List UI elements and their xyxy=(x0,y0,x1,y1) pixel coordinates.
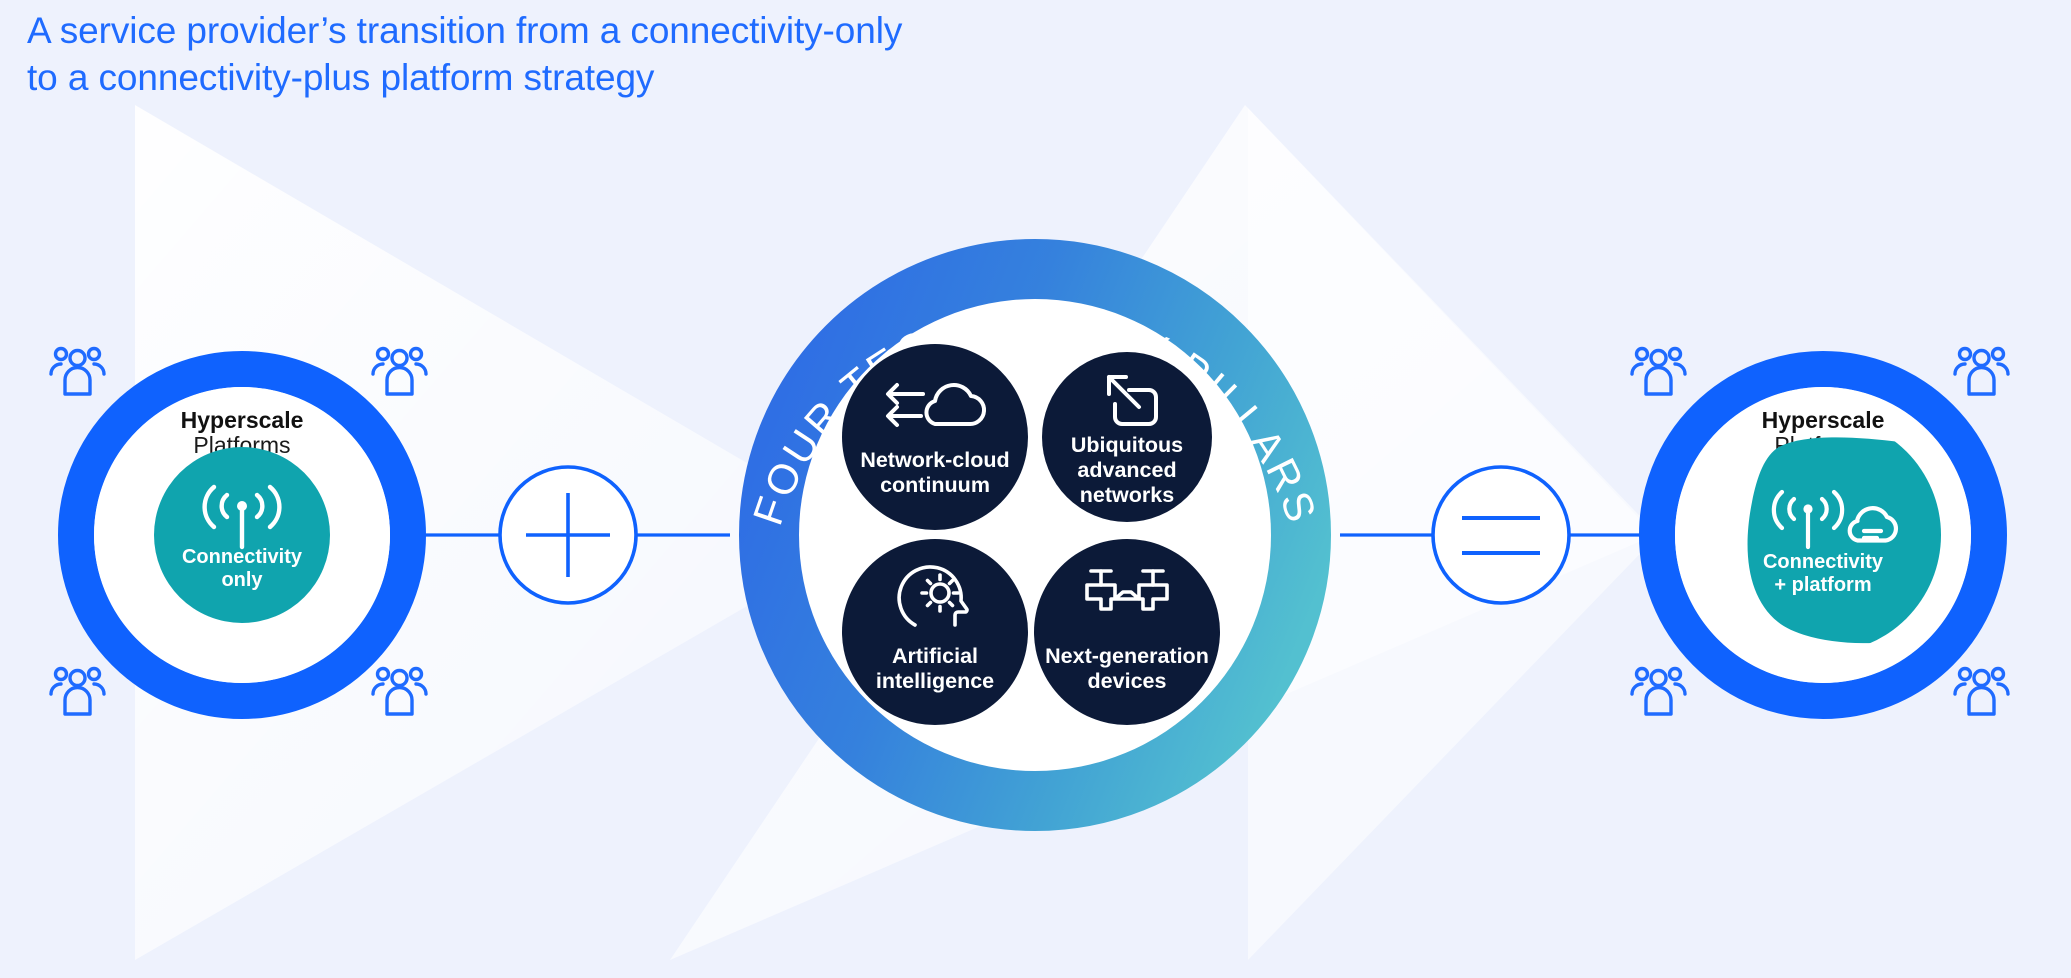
pillar-3-label-1: Artificial xyxy=(892,644,978,668)
right-node-core-label-1: Connectivity xyxy=(1763,551,1884,573)
right-node-core-label-2: + platform xyxy=(1774,574,1871,596)
pillar-artificial-intelligence[interactable]: Artificial intelligence xyxy=(842,539,1028,725)
pillar-network-cloud-continuum[interactable]: Network-cloud continuum xyxy=(842,344,1028,530)
center-node-group[interactable]: FOUR TECHNOLOGY PILLARS Network-cloud co… xyxy=(744,270,1327,800)
group-of-people-icon xyxy=(373,349,426,395)
group-of-people-icon xyxy=(51,669,104,715)
group-of-people-icon xyxy=(1632,349,1685,395)
pillar-4-circle xyxy=(1034,539,1220,725)
group-of-people-icon xyxy=(1955,349,2008,395)
pillar-1-label-1: Network-cloud xyxy=(860,448,1009,472)
group-of-people-icon xyxy=(1955,669,2008,715)
left-node-core-label-2: only xyxy=(221,569,263,591)
diagram-canvas: A service provider’s transition from a c… xyxy=(0,0,2071,978)
pillar-1-circle xyxy=(842,344,1028,530)
left-node-outer-label-bold: Hyperscale xyxy=(181,407,304,433)
right-node-group[interactable]: INNOVATORS Hyperscale Platforms xyxy=(1657,369,1989,701)
group-of-people-icon xyxy=(51,349,104,395)
left-node-group[interactable]: INNOVATORS Hyperscale Platforms Connecti… xyxy=(76,369,408,701)
pillar-next-generation-devices[interactable]: Next-generation devices xyxy=(1034,539,1220,725)
left-node-core-label-1: Connectivity xyxy=(182,546,303,568)
diagram-svg: INNOVATORS Hyperscale Platforms Connecti… xyxy=(0,0,2071,978)
right-node-outer-label-bold: Hyperscale xyxy=(1762,407,1885,433)
plus-operator[interactable] xyxy=(500,467,636,603)
equals-operator[interactable] xyxy=(1433,467,1569,603)
group-of-people-icon xyxy=(1632,669,1685,715)
pillar-4-label-2: devices xyxy=(1088,669,1167,693)
equals-operator-circle xyxy=(1433,467,1569,603)
pillar-3-label-2: intelligence xyxy=(876,669,994,693)
pillar-2-label-2: advanced xyxy=(1077,458,1176,482)
group-of-people-icon xyxy=(373,669,426,715)
pillar-2-label-3: networks xyxy=(1080,483,1174,507)
pillar-2-label-1: Ubiquitous xyxy=(1071,433,1183,457)
pillar-1-label-2: continuum xyxy=(880,473,990,497)
pillar-ubiquitous-advanced-networks[interactable]: Ubiquitous advanced networks xyxy=(1042,352,1212,522)
pillar-4-label-1: Next-generation xyxy=(1045,644,1209,668)
